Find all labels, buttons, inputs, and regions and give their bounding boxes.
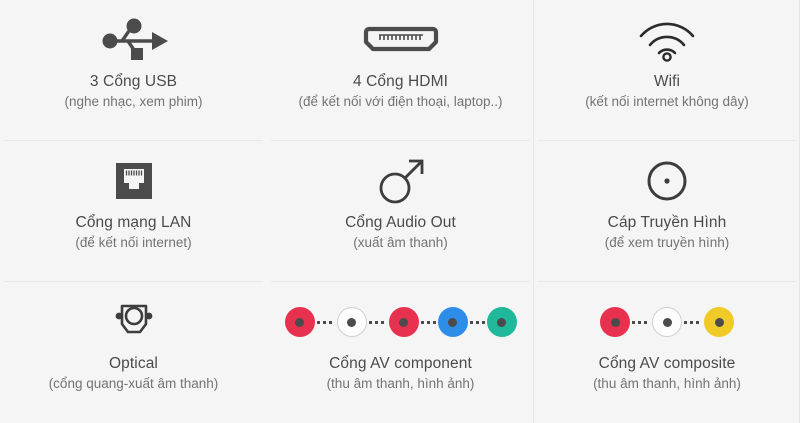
feature-subtitle: (cổng quang-xuất âm thanh) [49,374,219,393]
feature-cell-lan: Cổng mạng LAN (để kết nối internet) [0,141,267,282]
plug-group [285,307,517,337]
feature-title: 4 Cổng HDMI [353,72,448,92]
cable-dots [632,321,650,324]
plug-1 [285,307,315,337]
feature-cell-audio-out: Cổng Audio Out (xuất âm thanh) [267,141,534,282]
plug-pin [448,318,457,327]
plug-pin [497,318,506,327]
plug-2 [337,307,367,337]
plug-2 [652,307,682,337]
plug-pin [347,318,356,327]
feature-title: Optical [109,354,158,374]
audio-out-icon [375,153,427,209]
feature-cell-wifi: Wifi (kết nối internet không dây) [534,0,800,141]
feature-title: Cổng Audio Out [345,213,456,233]
plug-3 [704,307,734,337]
feature-cell-usb: 3 Cổng USB (nghe nhạc, xem phim) [0,0,267,141]
hdmi-icon [361,12,441,68]
av-composite-plugs-icon [600,294,734,350]
optical-port-icon [108,294,160,350]
feature-title: Cáp Truyền Hình [608,213,727,233]
plug-group [600,307,734,337]
feature-subtitle: (xuất âm thanh) [353,233,448,252]
lan-port-icon [114,153,154,209]
cable-dots [684,321,702,324]
cable-dots [369,321,387,324]
plug-pin [663,318,672,327]
connectivity-feature-grid: 3 Cổng USB (nghe nhạc, xem phim) 4 Cổng … [0,0,800,423]
feature-title: 3 Cổng USB [90,72,177,92]
feature-title: Cổng AV composite [599,354,736,374]
plug-pin [715,318,724,327]
plug-pin [611,318,620,327]
plug-1 [600,307,630,337]
coaxial-cable-icon [644,153,690,209]
feature-subtitle: (để kết nối internet) [75,233,191,252]
feature-subtitle: (thu âm thanh, hình ảnh) [593,374,741,393]
feature-subtitle: (thu âm thanh, hình ảnh) [327,374,475,393]
plug-pin [399,318,408,327]
plug-3 [389,307,419,337]
feature-cell-av-composite: Cổng AV composite (thu âm thanh, hình ản… [534,282,800,423]
cable-dots [470,321,485,324]
cable-dots [421,321,436,324]
feature-cell-av-component: Cổng AV component (thu âm thanh, hình ản… [267,282,534,423]
feature-cell-optical: Optical (cổng quang-xuất âm thanh) [0,282,267,423]
cable-dots [317,321,335,324]
plug-5 [487,307,517,337]
usb-icon [98,12,170,68]
feature-cell-coaxial: Cáp Truyền Hình (để xem truyền hình) [534,141,800,282]
plug-4 [438,307,468,337]
feature-subtitle: (nghe nhạc, xem phim) [64,92,202,111]
feature-subtitle: (kết nối internet không dây) [585,92,749,111]
feature-cell-hdmi: 4 Cổng HDMI (để kết nối với điện thoại, … [267,0,534,141]
feature-subtitle: (để xem truyền hình) [605,233,730,252]
wifi-icon [636,12,698,68]
feature-subtitle: (để kết nối với điện thoại, laptop..) [299,92,503,111]
av-component-plugs-icon [285,294,517,350]
plug-pin [295,318,304,327]
feature-title: Cổng mạng LAN [76,213,192,233]
feature-title: Wifi [654,72,680,92]
feature-title: Cổng AV component [329,354,472,374]
